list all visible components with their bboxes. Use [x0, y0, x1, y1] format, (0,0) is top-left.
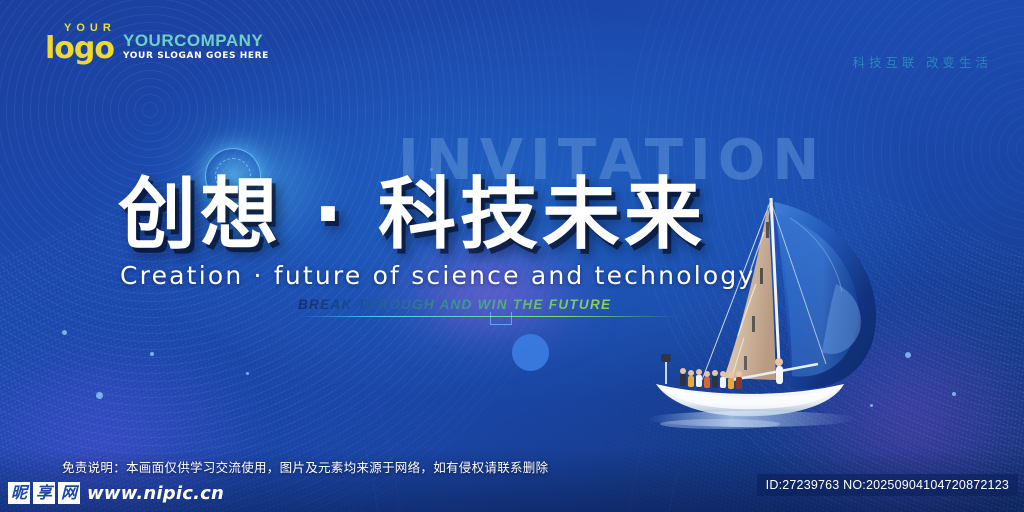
logo-your-text: YOUR	[64, 23, 116, 34]
nipic-char-1: 昵	[8, 482, 30, 504]
particle-dot	[62, 330, 67, 335]
particle-dot	[905, 352, 911, 358]
page-subtitle: Creation · future of science and technol…	[120, 261, 755, 290]
slogan-strip: BREAK THROUGH AND WIN THE FUTURE	[298, 296, 658, 314]
company-slogan: YOUR SLOGAN GOES HERE	[123, 52, 269, 61]
particle-dot	[952, 392, 956, 396]
brand-logo[interactable]: YOUR logo YOURCOMPANY YOUR SLOGAN GOES H…	[45, 32, 269, 64]
poster-canvas: YOUR logo YOURCOMPANY YOUR SLOGAN GOES H…	[0, 0, 1024, 512]
logo-mark: YOUR logo	[45, 34, 114, 64]
disclaimer-text: 免责说明：本画面仅供学习交流使用，图片及元素均来源于网络，如有侵权请联系删除	[62, 457, 548, 476]
particle-dot	[246, 372, 249, 375]
asset-id-badge: ID:27239763 NO:20250904104720872123	[757, 474, 1018, 496]
particle-dot	[96, 392, 103, 399]
slogan-strip-text: BREAK THROUGH AND WIN THE FUTURE	[298, 296, 658, 314]
company-name: YOURCOMPANY	[123, 32, 269, 49]
nipic-url[interactable]: www.nipic.cn	[87, 483, 224, 504]
logo-word-text: logo	[45, 31, 114, 66]
accent-circle	[512, 334, 549, 371]
chevron-down-icon	[490, 312, 512, 325]
nipic-logo: 昵 享 网	[8, 482, 80, 504]
header-tagline: 科技互联 改变生活	[853, 52, 992, 71]
slogan-strip-rule	[298, 316, 678, 317]
page-title: 创想 · 科技未来	[118, 176, 706, 254]
particle-dot	[150, 352, 154, 356]
site-watermark[interactable]: 昵 享 网 www.nipic.cn	[8, 482, 224, 504]
nipic-char-3: 网	[58, 482, 80, 504]
nipic-char-2: 享	[33, 482, 55, 504]
company-block: YOURCOMPANY YOUR SLOGAN GOES HERE	[123, 32, 269, 64]
